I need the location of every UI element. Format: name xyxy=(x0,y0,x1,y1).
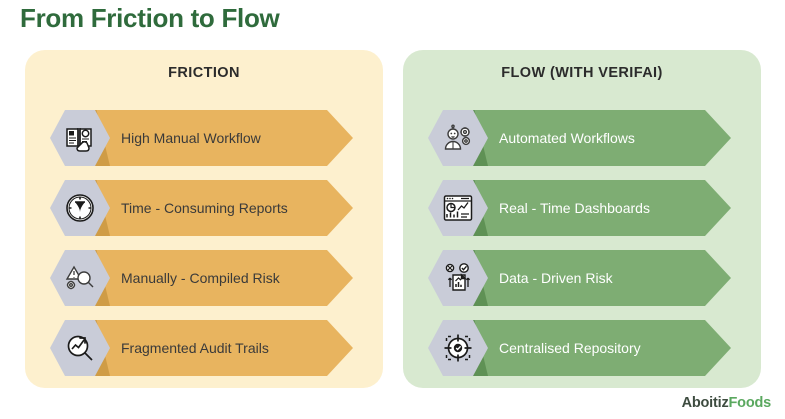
panel-friction-rows: High Manual Workflow Time - Consuming Re… xyxy=(25,110,383,390)
page-title: From Friction to Flow xyxy=(20,3,279,34)
panel-flow: FLOW (WITH VERIFAI) xyxy=(403,50,761,388)
logo-text-primary: Aboitiz xyxy=(682,395,729,411)
logo-text-secondary: Foods xyxy=(729,395,772,411)
flow-item-label: Automated Workflows xyxy=(499,110,635,166)
flow-item-label: Data - Driven Risk xyxy=(499,250,613,306)
friction-item-label: High Manual Workflow xyxy=(121,110,261,166)
flow-item-label: Real - Time Dashboards xyxy=(499,180,650,236)
flow-item-label: Centralised Repository xyxy=(499,320,641,376)
aboitizfoods-logo: AboitizFoods xyxy=(682,395,771,411)
friction-item-high-manual-workflow[interactable]: High Manual Workflow xyxy=(25,110,383,166)
flow-item-centralised-repository[interactable]: Centralised Repository xyxy=(403,320,761,376)
flow-item-data-driven-risk[interactable]: Data - Driven Risk xyxy=(403,250,761,306)
friction-item-label: Manually - Compiled Risk xyxy=(121,250,280,306)
panel-flow-heading: FLOW (WITH VERIFAI) xyxy=(403,65,761,81)
panel-friction-heading: FRICTION xyxy=(25,65,383,81)
flow-item-automated-workflows[interactable]: Automated Workflows xyxy=(403,110,761,166)
friction-item-manually-compiled-risk[interactable]: Manually - Compiled Risk xyxy=(25,250,383,306)
friction-item-fragmented-audit-trails[interactable]: Fragmented Audit Trails xyxy=(25,320,383,376)
flow-item-real-time-dashboards[interactable]: Real - Time Dashboards xyxy=(403,180,761,236)
friction-item-label: Fragmented Audit Trails xyxy=(121,320,269,376)
friction-item-label: Time - Consuming Reports xyxy=(121,180,288,236)
panel-flow-rows: Automated Workflows xyxy=(403,110,761,390)
panel-friction: FRICTION High Manual Workflow xyxy=(25,50,383,388)
friction-item-time-consuming-reports[interactable]: Time - Consuming Reports xyxy=(25,180,383,236)
